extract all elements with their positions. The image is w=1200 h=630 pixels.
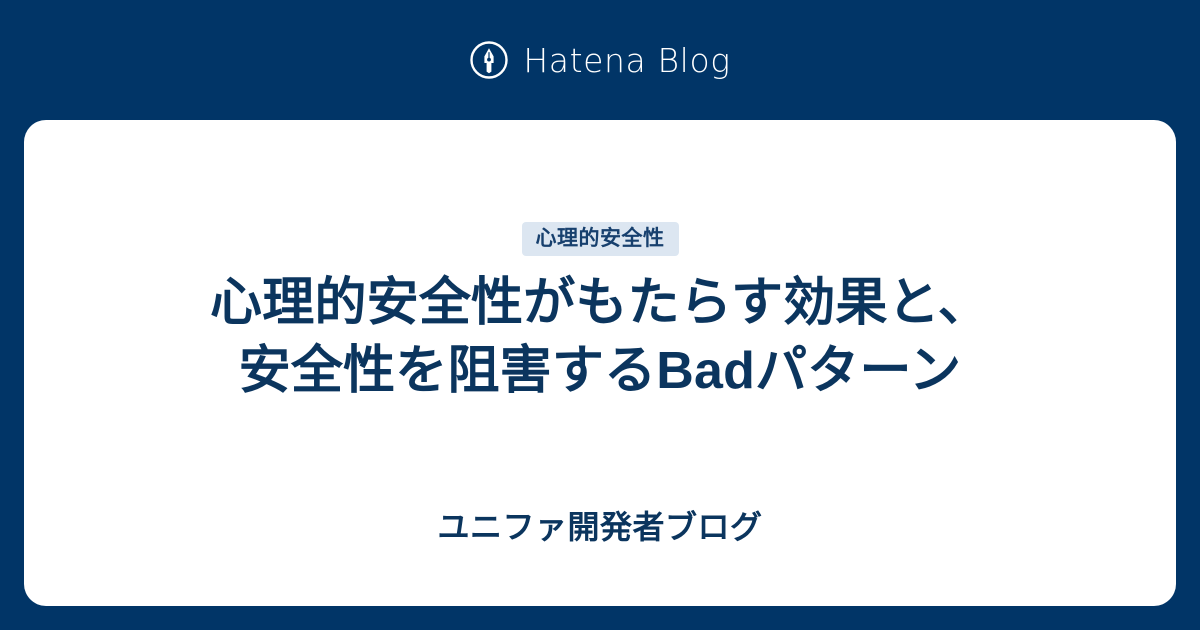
page-title: 心理的安全性がもたらす効果と、 安全性を阻害するBadパターン	[150, 270, 1050, 405]
blog-name[interactable]: ユニファ開発者ブログ	[24, 508, 1176, 546]
category-badge-row: 心理的安全性	[522, 222, 679, 256]
og-image-card: Hatena Blog 心理的安全性 心理的安全性がもたらす効果と、 安全性を阻…	[0, 0, 1200, 630]
category-badge[interactable]: 心理的安全性	[522, 222, 679, 256]
brand-header: Hatena Blog	[0, 0, 1200, 120]
fountain-pen-nib-in-circle-icon	[469, 40, 509, 80]
brand-name: Hatena Blog	[523, 44, 730, 77]
page-title-line-2: 安全性を阻害するBadパターン	[210, 338, 990, 406]
page-title-line-1: 心理的安全性がもたらす効果と、	[210, 270, 990, 338]
entry-content-card: 心理的安全性 心理的安全性がもたらす効果と、 安全性を阻害するBadパターン ユ…	[24, 120, 1176, 606]
